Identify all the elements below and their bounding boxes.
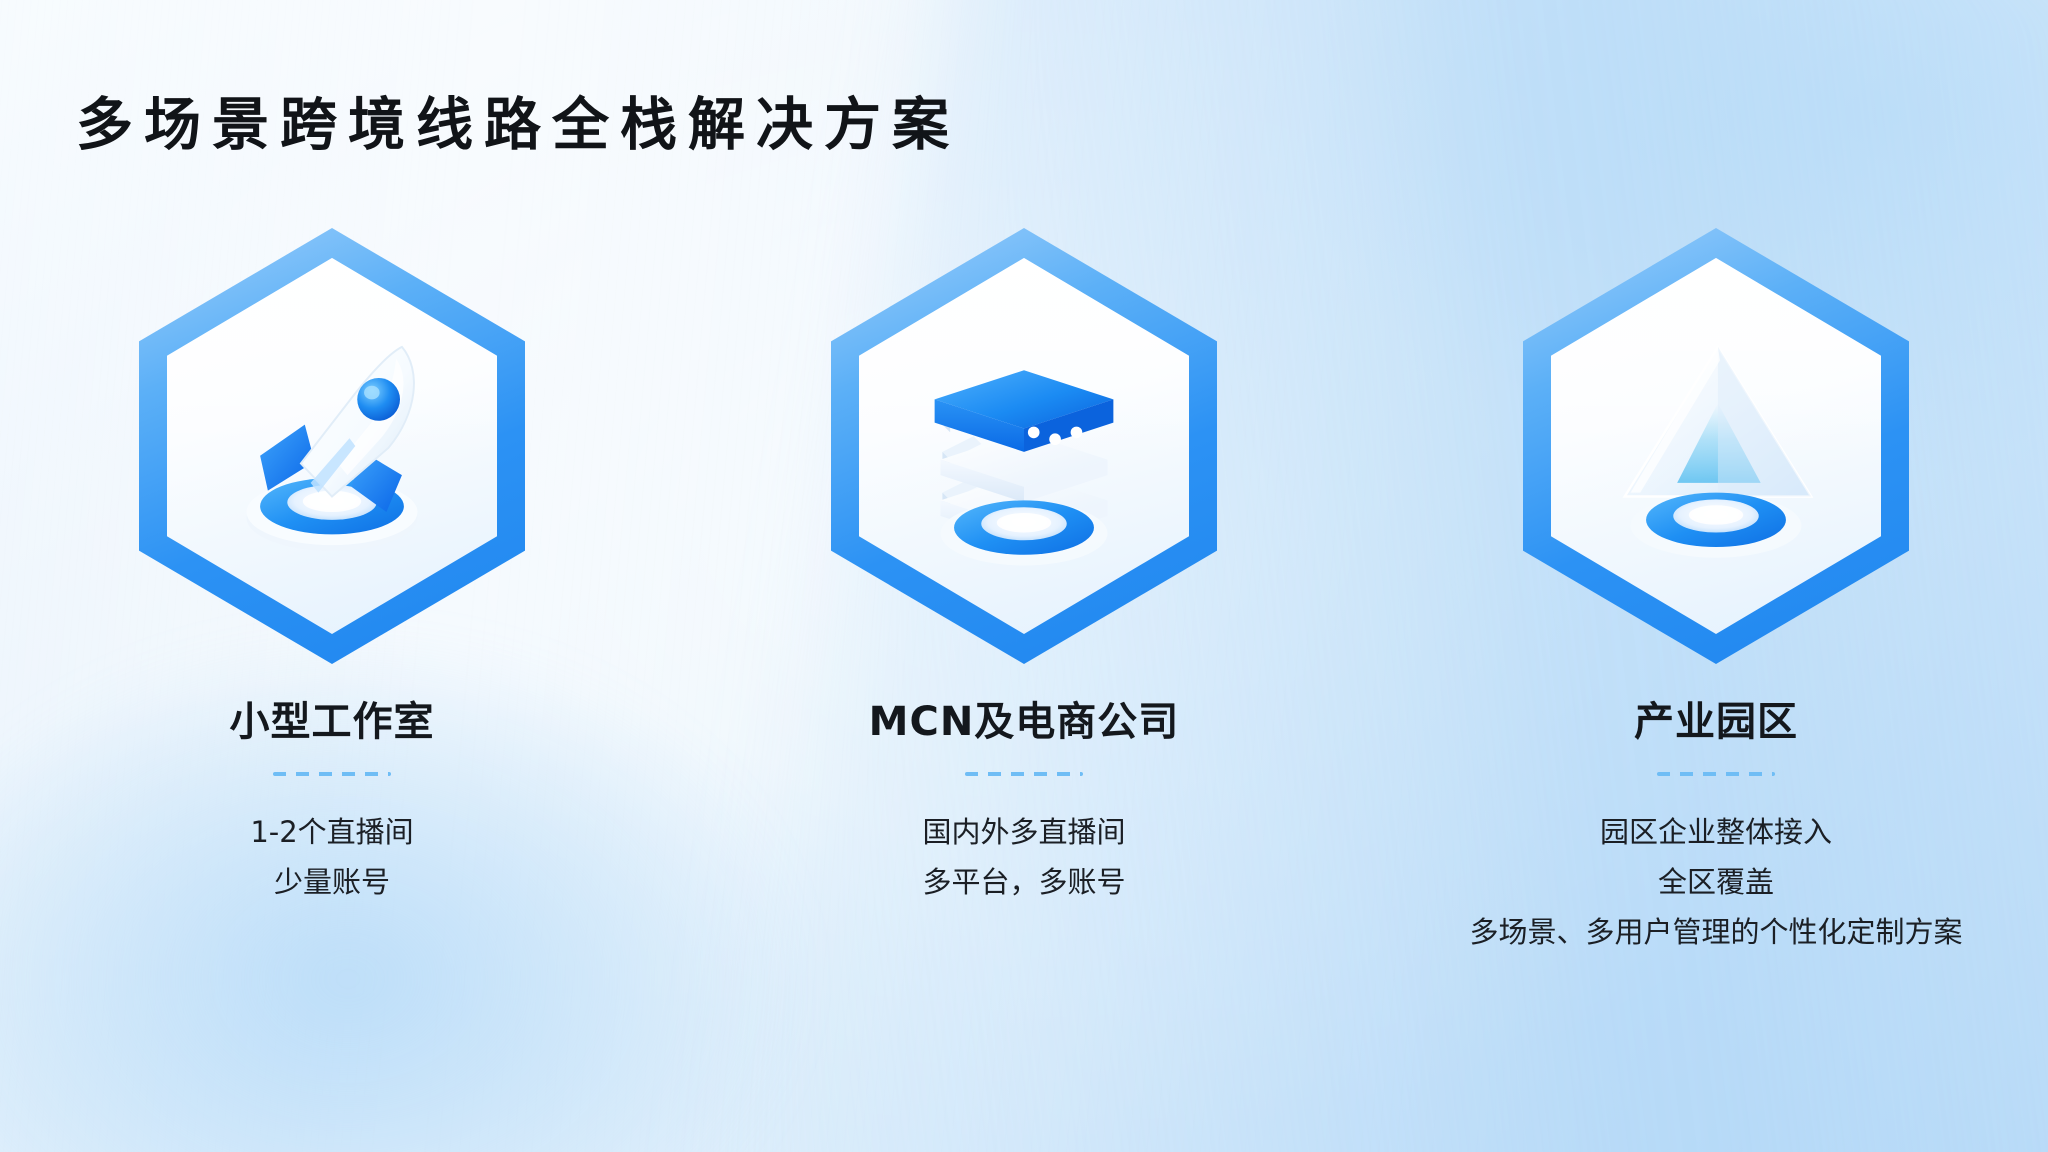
card-description: 国内外多直播间 多平台，多账号 — [922, 808, 1125, 908]
hexagon-badge — [139, 228, 525, 664]
rocket-icon — [196, 310, 468, 582]
card-line: 全区覆盖 — [1469, 858, 1962, 908]
card-line: 多平台，多账号 — [922, 858, 1125, 908]
dashed-divider — [1657, 772, 1775, 776]
page-title: 多场景跨境线路全栈解决方案 — [76, 94, 960, 157]
card-description: 1-2个直播间 少量账号 — [250, 808, 413, 908]
card-line: 国内外多直播间 — [922, 808, 1125, 858]
card-title: 小型工作室 — [230, 698, 435, 746]
hexagon-badge — [1523, 228, 1909, 664]
scenario-card-row: 小型工作室 1-2个直播间 少量账号 — [0, 228, 2048, 958]
scenario-card-industrial-park[interactable]: 产业园区 园区企业整体接入 全区覆盖 多场景、多用户管理的个性化定制方案 — [1436, 228, 1996, 958]
card-title: MCN及电商公司 — [869, 698, 1180, 746]
poster-stage: 多场景跨境线路全栈解决方案 — [0, 0, 2048, 1152]
card-line: 少量账号 — [250, 858, 413, 908]
card-line: 1-2个直播间 — [250, 808, 413, 858]
card-title: 产业园区 — [1634, 698, 1798, 746]
scenario-card-mcn[interactable]: MCN及电商公司 国内外多直播间 多平台，多账号 — [744, 228, 1304, 908]
dashed-divider — [965, 772, 1083, 776]
scenario-card-studio[interactable]: 小型工作室 1-2个直播间 少量账号 — [52, 228, 612, 908]
card-description: 园区企业整体接入 全区覆盖 多场景、多用户管理的个性化定制方案 — [1469, 808, 1962, 958]
hexagon-badge — [831, 228, 1217, 664]
dashed-divider — [273, 772, 391, 776]
card-line: 多场景、多用户管理的个性化定制方案 — [1469, 908, 1962, 958]
glass-pyramid-icon — [1580, 310, 1852, 582]
server-stack-icon — [888, 310, 1160, 582]
card-line: 园区企业整体接入 — [1469, 808, 1962, 858]
